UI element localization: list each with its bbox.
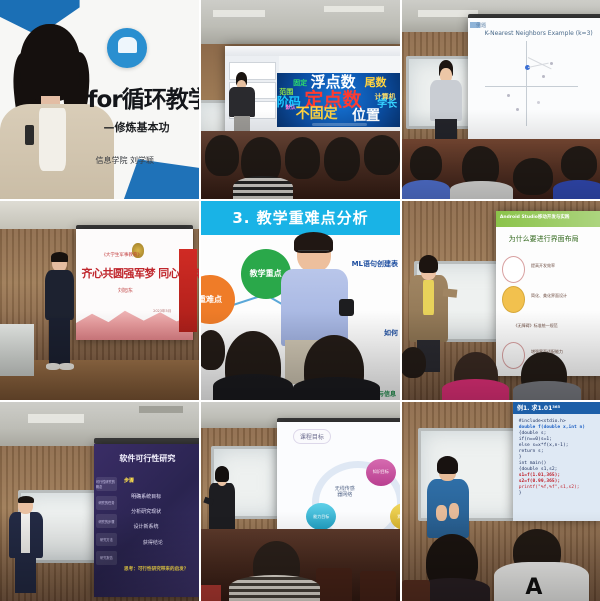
slide-list-item: 简化、美化界面设计: [502, 284, 598, 314]
poster-byline: 信息学院 刘学颖: [96, 155, 155, 166]
tile-word-cloud-lecture[interactable]: 固定 浮点数 尾数 范围 阶码 定点数 计算机 学长 默认 不固定 位置: [201, 0, 400, 199]
audience-area: [201, 324, 400, 400]
code-block: #include<stdio.h> double f(double x,int …: [519, 419, 600, 498]
slide-bullet: 思考：可行性研究带来的启发？: [124, 566, 188, 572]
slide-list-item-label: 《无障碍》标准统一规范: [514, 323, 558, 329]
ceiling: [201, 0, 400, 44]
slide-banner-text: 3. 教学重难点分析: [232, 207, 368, 228]
slide-dock: [312, 123, 367, 127]
python-logo-icon: [107, 28, 147, 68]
slide-bullet: 明确系统目标: [131, 493, 161, 500]
slide-list-item: 《无障碍》标准统一规范: [502, 313, 598, 343]
slide-title: 软件可行性研究: [119, 453, 175, 464]
cycle-node-knowledge: 知识目标: [366, 459, 396, 486]
projection-screen: 《大学生军事教育》 齐心共圆强军梦 同心共筑国防梦 刘旭东 2023年5月: [76, 229, 193, 340]
word-cloud-term: 位置: [352, 109, 380, 123]
tile-knn-lecture[interactable]: 例题 K-Nearest Neighbors Example (k=3): [402, 0, 600, 199]
instructor: [10, 498, 42, 594]
tile-military-education-lecture[interactable]: 《大学生军事教育》 齐心共圆强军梦 同心共筑国防梦 刘旭东 2023年5月: [0, 201, 199, 400]
ppt-toolbar: [225, 46, 400, 56]
slide-header: 例题: [476, 22, 486, 29]
slide-list-item-label: 提高开发效率: [531, 263, 555, 269]
scatter-plot: [485, 41, 578, 126]
slide-nav-item: 研究方法: [96, 533, 117, 547]
audience-area: A: [402, 513, 600, 601]
photo-collage-grid: for循环教学设计 —修炼基本功 信息学院 刘学颖 固定 浮点数 尾数 范围 阶…: [0, 0, 600, 600]
slide-text-right-1: ML语句创建表: [352, 259, 398, 269]
slide-list-item-label: 简化、美化界面设计: [531, 293, 567, 299]
chart-title: K-Nearest Neighbors Example (k=3): [485, 30, 593, 37]
tile-python-for-loop-course-poster[interactable]: for循环教学设计 —修炼基本功 信息学院 刘学颖: [0, 0, 199, 199]
bubble-label: 教学重点: [250, 269, 282, 278]
poster-subtitle: —修炼基本功: [103, 119, 169, 135]
podium: [0, 324, 34, 376]
slide-subtitle: 《大学生军事教育》: [101, 252, 142, 258]
slide-header-bar: Android Studio移动开发与实践: [496, 211, 600, 228]
word-cloud-term: 不固定: [296, 107, 338, 121]
audience-area: [201, 529, 400, 601]
slide-nav-item: 研究的步骤: [96, 514, 117, 528]
slide-banner: 3. 教学重难点分析: [201, 201, 400, 235]
national-flag: [179, 249, 197, 333]
tile-c-programming-lecture[interactable]: 例1. 求1.01³⁶⁵ #include<stdio.h> double f(…: [402, 402, 600, 601]
poster-title: for循环教学设计: [88, 80, 199, 114]
audience-area: [201, 131, 400, 199]
projection-screen: 例题 K-Nearest Neighbors Example (k=3): [468, 18, 600, 155]
instructor: [44, 255, 76, 370]
tile-software-feasibility-lecture[interactable]: 软件可行性研究 可行性研究的概念 研究的任务 研究的步骤 研究方法 研究报告 步…: [0, 402, 199, 601]
slide-header-text: 例1. 求1.01³⁶⁵: [517, 403, 560, 412]
slide-nav-item: 可行性研究的概念: [96, 477, 117, 491]
cycle-center-label: 无线传感器网络: [335, 486, 355, 499]
projection-screen: 软件可行性研究 可行性研究的概念 研究的任务 研究的步骤 研究方法 研究报告 步…: [94, 444, 199, 597]
slide-nav-item: 研究的任务: [96, 496, 117, 510]
tile-teaching-key-points-lecture[interactable]: 3. 教学重难点分析 教学重点 重难点 ML语句创建表 如何 计算机与信息: [201, 201, 400, 400]
slide-header-text: Android Studio移动开发与实践: [500, 214, 570, 220]
slide-bullet: 步骤: [124, 477, 134, 484]
slide-nav-item: 研究报告: [96, 551, 117, 565]
slide-header-bar: 例1. 求1.01³⁶⁵: [513, 402, 600, 414]
seal-icon: [502, 256, 525, 283]
word-cloud-term: 默认: [286, 106, 296, 111]
projection-screen: 课程目标 知识目标 能力目标 素质目标 无线传感器网络: [277, 422, 400, 545]
slide-title: 课程目标: [293, 429, 331, 444]
slide-presenter: 刘旭东: [118, 287, 133, 294]
instructor: [229, 72, 255, 136]
slide-date: 2023年5月: [153, 309, 171, 314]
audience-area: [402, 139, 600, 199]
audience-area: [402, 344, 600, 400]
slide-title: 为什么要进行界面布局: [509, 234, 579, 244]
slide-bullet: 设计新系统: [133, 523, 158, 530]
word-cloud-slide: 固定 浮点数 尾数 范围 阶码 定点数 计算机 学长 默认 不固定 位置: [277, 73, 400, 127]
slide-list-item: 提高开发效率: [502, 254, 598, 284]
word-cloud-term: 固定: [293, 80, 307, 87]
slide-decoration: [76, 302, 193, 340]
tile-course-objectives-lecture[interactable]: 课程目标 知识目标 能力目标 素质目标 无线传感器网络: [201, 402, 400, 601]
bubble-difficulty: 重难点: [201, 275, 235, 325]
tile-android-ui-layout-lecture[interactable]: Android Studio移动开发与实践 为什么要进行界面布局 提高开发效率 …: [402, 201, 600, 400]
word-cloud-term: 尾数: [365, 77, 387, 88]
person-icon: [502, 286, 525, 313]
projection-screen: 例1. 求1.01³⁶⁵ #include<stdio.h> double f(…: [513, 402, 600, 521]
code-line: }: [519, 491, 600, 497]
slide-bullet: 分析研究现状: [131, 508, 161, 515]
bubble-label: 重难点: [201, 295, 222, 304]
word-cloud-term: 学长: [377, 100, 397, 110]
slide-bullet: 获得结论: [143, 539, 163, 546]
